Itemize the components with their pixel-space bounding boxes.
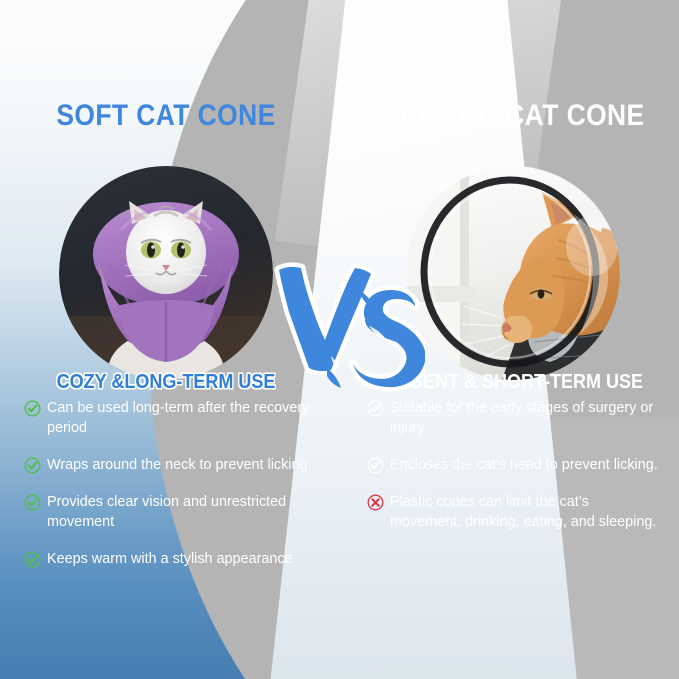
list-item: Provides clear vision and unrestricted m… bbox=[24, 492, 316, 532]
check-circle-icon bbox=[24, 400, 41, 417]
right-drawback-list: Suitable for the early stages of surgery… bbox=[367, 398, 661, 549]
check-circle-icon bbox=[367, 457, 384, 474]
versus-badge bbox=[265, 252, 425, 412]
list-item-text: Plastic cones can limit the cat’s moveme… bbox=[390, 492, 661, 532]
list-item: Plastic cones can limit the cat’s moveme… bbox=[367, 492, 661, 532]
right-column-title: PLASTIC CAT CONE bbox=[372, 99, 654, 133]
list-item-text: Provides clear vision and unrestricted m… bbox=[47, 492, 316, 532]
left-benefit-list: Can be used long-term after the recovery… bbox=[24, 398, 316, 586]
list-item: Wraps around the neck to prevent licking bbox=[24, 455, 316, 475]
comparison-infographic: SOFT CAT CONE bbox=[0, 0, 679, 679]
list-item-text: Wraps around the neck to prevent licking bbox=[47, 455, 308, 475]
list-item-text: Encloses the cat’s head to prevent licki… bbox=[390, 455, 658, 475]
plastic-cone-photo bbox=[406, 166, 620, 380]
check-circle-icon bbox=[24, 494, 41, 511]
soft-cone-photo bbox=[59, 166, 273, 380]
list-item: Encloses the cat’s head to prevent licki… bbox=[367, 455, 661, 475]
list-item-text: Suitable for the early stages of surgery… bbox=[390, 398, 661, 438]
list-item-text: Keeps warm with a stylish appearance bbox=[47, 549, 293, 569]
left-column-title: SOFT CAT CONE bbox=[25, 99, 307, 133]
cross-circle-icon bbox=[367, 494, 384, 511]
list-item: Keeps warm with a stylish appearance bbox=[24, 549, 316, 569]
check-circle-icon bbox=[24, 457, 41, 474]
check-circle-icon bbox=[24, 551, 41, 568]
